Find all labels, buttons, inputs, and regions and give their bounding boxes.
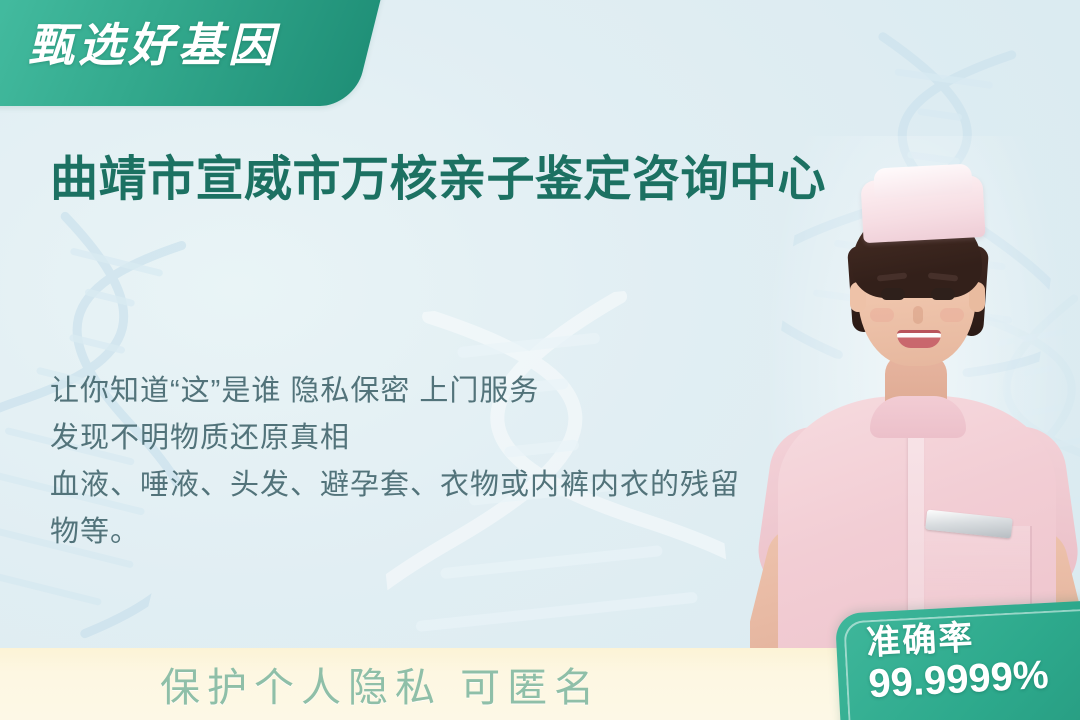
description-line-2: 发现不明物质还原真相 — [50, 415, 750, 462]
accuracy-value: 99.9999% — [867, 653, 1049, 707]
description-line-1: 让你知道“这”是谁 隐私保密 上门服务 — [50, 368, 750, 415]
nose — [913, 306, 923, 324]
brand-ribbon-inner: 甄选好基因 — [0, 0, 370, 106]
promo-banner: 甄选好基因 曲靖市宣威市万核亲子鉴定咨询中心 让你知道“这”是谁 隐私保密 上门… — [0, 0, 1080, 720]
accuracy-badge-inner: 准确率 99.9999% — [835, 598, 1080, 720]
cheek-right — [940, 308, 964, 322]
description-block: 让你知道“这”是谁 隐私保密 上门服务 发现不明物质还原真相 血液、唾液、头发、… — [50, 368, 750, 556]
accuracy-badge: 准确率 99.9999% — [835, 598, 1080, 720]
nurse-cap-top — [873, 163, 972, 198]
description-line-3: 血液、唾液、头发、避孕套、衣物或内裤内衣的残留物等。 — [50, 462, 750, 556]
accuracy-label: 准确率 — [865, 619, 975, 663]
mouth — [897, 330, 941, 348]
uniform-collar — [870, 396, 966, 438]
cheek-left — [870, 308, 894, 322]
brand-slogan: 甄选好基因 — [28, 9, 278, 75]
page-title: 曲靖市宣威市万核亲子鉴定咨询中心 — [50, 152, 850, 209]
brand-ribbon: 甄选好基因 — [0, 0, 386, 106]
eye-left — [881, 288, 905, 300]
eye-right — [931, 288, 955, 300]
